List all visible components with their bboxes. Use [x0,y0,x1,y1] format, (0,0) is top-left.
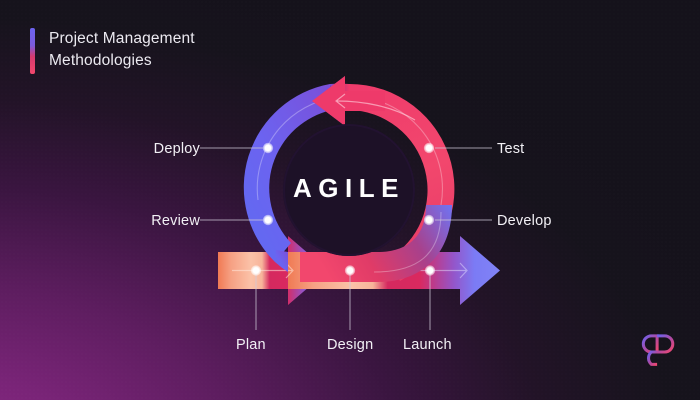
slide-canvas: Project Management Methodologies [0,0,700,400]
page-title: Project Management Methodologies [49,28,195,72]
brand-logo-icon [640,332,678,372]
node-dot-plan [251,265,261,275]
node-label-test: Test [497,141,524,157]
accent-bar [30,28,35,74]
center-label: AGILE [293,173,405,203]
slide-header: Project Management Methodologies [30,28,195,74]
node-dot-test [424,143,434,153]
node-dot-review [263,215,273,225]
node-dot-deploy [263,143,273,153]
node-label-deploy: Deploy [96,141,200,157]
node-label-launch: Launch [403,337,452,353]
node-dot-design [345,265,355,275]
node-label-develop: Develop [497,213,552,229]
node-dot-launch [425,265,435,275]
node-label-plan: Plan [236,337,266,353]
node-dot-develop [424,215,434,225]
node-label-design: Design [327,337,373,353]
node-label-review: Review [96,213,200,229]
